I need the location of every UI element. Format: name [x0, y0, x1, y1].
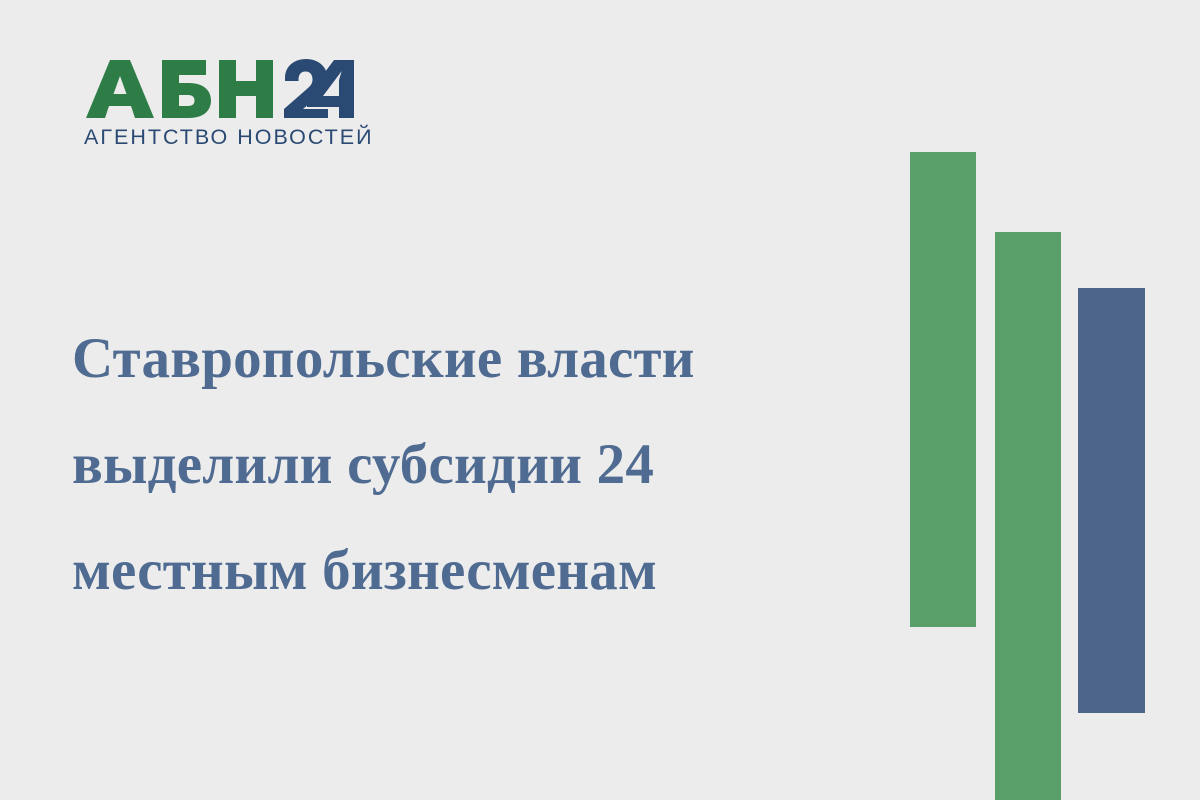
abn24-wordmark-icon: [82, 58, 354, 120]
brand-logo[interactable]: АГЕНТСТВО НОВОСТЕЙ: [82, 58, 382, 158]
headline-text: Ставропольские власти выделили субсидии …: [72, 306, 862, 624]
logo-tagline: АГЕНТСТВО НОВОСТЕЙ: [84, 127, 382, 149]
chart-bar-2: [995, 232, 1061, 800]
chart-bar-3: [1078, 288, 1145, 713]
chart-bar-1: [910, 152, 976, 627]
news-card: АГЕНТСТВО НОВОСТЕЙ Ставропольские власти…: [0, 0, 1200, 800]
